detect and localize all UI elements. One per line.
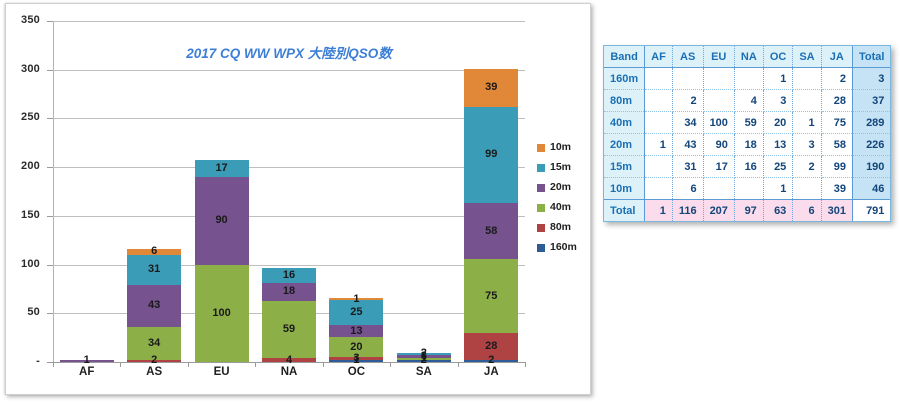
legend-swatch-80m xyxy=(537,224,545,232)
table-cell xyxy=(793,178,821,200)
bar-stack-eu[interactable]: 1790100 xyxy=(195,160,249,362)
table-cell: 1 xyxy=(763,178,793,200)
bar-segment-na-15m[interactable]: 16 xyxy=(262,268,316,284)
table-cell: 99 xyxy=(821,156,852,178)
x-axis-label-eu: EU xyxy=(192,366,252,378)
table-cell: 190 xyxy=(852,156,890,178)
bar-value-label: 25 xyxy=(350,307,362,318)
bar-segment-ja-40m[interactable]: 75 xyxy=(464,259,518,332)
bar-segment-na-20m[interactable]: 18 xyxy=(262,283,316,301)
table-row-header-40m: 40m xyxy=(604,112,645,134)
y-tick-mark-150 xyxy=(47,216,53,217)
table-cell: 1 xyxy=(645,134,673,156)
table-cell xyxy=(645,112,673,134)
table-cell xyxy=(645,156,673,178)
x-tick-end xyxy=(525,362,526,367)
legend-item-10m[interactable]: 10m xyxy=(537,142,589,153)
bar-value-label: 34 xyxy=(148,338,160,349)
x-tick-na xyxy=(255,362,256,367)
bar-value-label: 28 xyxy=(485,341,497,352)
x-axis-label-af: AF xyxy=(57,366,117,378)
table-cell: 97 xyxy=(734,200,763,222)
legend-item-40m[interactable]: 40m xyxy=(537,202,589,213)
table-cell: 2 xyxy=(672,90,703,112)
table-cell: 46 xyxy=(852,178,890,200)
table-header-total: Total xyxy=(852,46,890,68)
gridline-300 xyxy=(53,70,525,71)
bar-value-label: 31 xyxy=(148,264,160,275)
table-cell xyxy=(645,178,673,200)
legend-label: 80m xyxy=(550,222,571,233)
table-row: 40m341005920175289 xyxy=(604,112,890,134)
table-row-header-160m: 160m xyxy=(604,68,645,90)
x-tick-af xyxy=(53,362,54,367)
table-cell: 17 xyxy=(703,156,734,178)
bar-value-label: 1 xyxy=(353,355,359,366)
bar-segment-ja-20m[interactable]: 58 xyxy=(464,203,518,260)
table-row: Total111620797636301791 xyxy=(604,200,890,222)
table-cell: 301 xyxy=(821,200,852,222)
bar-segment-eu-40m[interactable]: 100 xyxy=(195,265,249,362)
y-tick-mark-250 xyxy=(47,118,53,119)
table-cell xyxy=(793,90,821,112)
table-cell: 13 xyxy=(763,134,793,156)
bar-value-label: 4 xyxy=(286,355,292,366)
y-tick-mark-300 xyxy=(47,70,53,71)
bar-value-label: 1 xyxy=(353,294,359,305)
x-tick-sa xyxy=(390,362,391,367)
table-cell: 28 xyxy=(821,90,852,112)
table-cell: 39 xyxy=(821,178,852,200)
chart-title: 2017 CQ WW WPX 大陸別QSO数 xyxy=(53,21,525,62)
table-cell: 3 xyxy=(852,68,890,90)
table-cell: 100 xyxy=(703,112,734,134)
y-tick-mark-50 xyxy=(47,313,53,314)
y-tick-mark-100 xyxy=(47,265,53,266)
bar-segment-ja-15m[interactable]: 99 xyxy=(464,107,518,203)
x-tick-eu xyxy=(188,362,189,367)
table-cell xyxy=(645,68,673,90)
bar-stack-oc[interactable]: 125132031 xyxy=(329,298,383,362)
bar-value-label: 58 xyxy=(485,226,497,237)
table-cell: 289 xyxy=(852,112,890,134)
table-row-header-80m: 80m xyxy=(604,90,645,112)
table-cell xyxy=(703,90,734,112)
qso-data-table: BandAFASEUNAOCSAJATotal 160m12380m243283… xyxy=(604,46,890,221)
bar-value-label: 39 xyxy=(485,82,497,93)
table-cell: 16 xyxy=(734,156,763,178)
legend-item-160m[interactable]: 160m xyxy=(537,242,589,253)
bar-value-label: 18 xyxy=(283,286,295,297)
table-row: 10m613946 xyxy=(604,178,890,200)
table-cell: 1 xyxy=(645,200,673,222)
bar-value-label: 17 xyxy=(215,163,227,174)
bar-stack-sa[interactable]: 2312 xyxy=(397,353,451,362)
legend-label: 20m xyxy=(550,182,571,193)
y-tick-label-100: 100 xyxy=(0,258,40,270)
gridline-150 xyxy=(53,216,525,217)
bar-value-label: 2 xyxy=(151,355,157,366)
y-tick-mark-200 xyxy=(47,167,53,168)
table-cell: 59 xyxy=(734,112,763,134)
bar-value-label: 59 xyxy=(283,324,295,335)
legend-item-20m[interactable]: 20m xyxy=(537,182,589,193)
y-tick-label-150: 150 xyxy=(0,209,40,221)
table-cell: 791 xyxy=(852,200,890,222)
table-cell: 3 xyxy=(763,90,793,112)
table-cell: 4 xyxy=(734,90,763,112)
bar-value-label: 75 xyxy=(485,291,497,302)
legend-label: 10m xyxy=(550,142,571,153)
bar-stack-as[interactable]: 63143342 xyxy=(127,249,181,362)
legend-label: 15m xyxy=(550,162,571,173)
x-tick-ja xyxy=(458,362,459,367)
legend-item-15m[interactable]: 15m xyxy=(537,162,589,173)
table-body: 160m12380m243283740m34100592017528920m14… xyxy=(604,68,890,222)
legend-item-80m[interactable]: 80m xyxy=(537,222,589,233)
table-row: 20m143901813358226 xyxy=(604,134,890,156)
bar-value-label: 90 xyxy=(215,215,227,226)
table-header-eu: EU xyxy=(703,46,734,68)
bar-segment-eu-15m[interactable]: 17 xyxy=(195,160,249,177)
table-cell xyxy=(734,68,763,90)
bar-segment-eu-20m[interactable]: 90 xyxy=(195,177,249,265)
gridline-250 xyxy=(53,118,525,119)
x-tick-oc xyxy=(323,362,324,367)
x-tick-as xyxy=(120,362,121,367)
chart-panel: -50100150200250300350 2017 CQ WW WPX 大陸別… xyxy=(5,3,591,395)
table-header-oc: OC xyxy=(763,46,793,68)
table-cell: 2 xyxy=(821,68,852,90)
plot-area: -50100150200250300350 2017 CQ WW WPX 大陸別… xyxy=(53,21,525,362)
y-tick-label-300: 300 xyxy=(0,63,40,75)
y-tick-label-350: 350 xyxy=(0,14,40,26)
table-header-ja: JA xyxy=(821,46,852,68)
bar-stack-ja[interactable]: 39995875282 xyxy=(464,69,518,362)
table-cell: 58 xyxy=(821,134,852,156)
chart-legend: 10m15m20m40m80m160m xyxy=(537,142,589,262)
bar-value-label: 6 xyxy=(151,246,157,257)
table-row-header-10m: 10m xyxy=(604,178,645,200)
legend-swatch-160m xyxy=(537,244,545,252)
bar-value-label: 13 xyxy=(350,326,362,337)
x-axis-label-oc: OC xyxy=(326,366,386,378)
table-row: 15m31171625299190 xyxy=(604,156,890,178)
table-header-as: AS xyxy=(672,46,703,68)
y-tick-label-0: - xyxy=(0,355,40,367)
table-head: BandAFASEUNAOCSAJATotal xyxy=(604,46,890,68)
x-axis-label-na: NA xyxy=(259,366,319,378)
legend-swatch-10m xyxy=(537,144,545,152)
table-cell: 37 xyxy=(852,90,890,112)
gridline-200 xyxy=(53,167,525,168)
y-tick-label-250: 250 xyxy=(0,111,40,123)
table-cell: 75 xyxy=(821,112,852,134)
bar-segment-as-20m[interactable]: 43 xyxy=(127,285,181,327)
bar-segment-na-40m[interactable]: 59 xyxy=(262,301,316,358)
legend-swatch-15m xyxy=(537,164,545,172)
legend-swatch-20m xyxy=(537,184,545,192)
bar-value-label: 99 xyxy=(485,149,497,160)
table-cell: 90 xyxy=(703,134,734,156)
table-cell xyxy=(734,178,763,200)
table-cell xyxy=(793,68,821,90)
bar-value-label: 16 xyxy=(283,270,295,281)
legend-label: 40m xyxy=(550,202,571,213)
bar-segment-oc-20m[interactable]: 13 xyxy=(329,325,383,338)
table-cell xyxy=(672,68,703,90)
bar-segment-as-15m[interactable]: 31 xyxy=(127,255,181,285)
bar-value-label: 43 xyxy=(148,300,160,311)
x-axis-label-sa: SA xyxy=(394,366,454,378)
table-cell: 31 xyxy=(672,156,703,178)
table-cell: 6 xyxy=(793,200,821,222)
table-row-header-20m: 20m xyxy=(604,134,645,156)
table-cell: 18 xyxy=(734,134,763,156)
table-cell xyxy=(703,178,734,200)
bar-segment-ja-10m[interactable]: 39 xyxy=(464,69,518,107)
gridline-100 xyxy=(53,265,525,266)
bar-value-label: 1 xyxy=(84,355,90,366)
table-header-af: AF xyxy=(645,46,673,68)
table-row-header-15m: 15m xyxy=(604,156,645,178)
table-cell: 3 xyxy=(793,134,821,156)
table-cell: 25 xyxy=(763,156,793,178)
table-cell: 6 xyxy=(672,178,703,200)
table-cell: 63 xyxy=(763,200,793,222)
y-tick-label-50: 50 xyxy=(0,306,40,318)
table-cell: 43 xyxy=(672,134,703,156)
table-cell xyxy=(645,90,673,112)
x-axis-label-as: AS xyxy=(124,366,184,378)
table-cell: 207 xyxy=(703,200,734,222)
legend-swatch-40m xyxy=(537,204,545,212)
bar-value-label: 2 xyxy=(488,355,494,366)
table-cell: 34 xyxy=(672,112,703,134)
table-row: 160m123 xyxy=(604,68,890,90)
data-table-panel: BandAFASEUNAOCSAJATotal 160m12380m243283… xyxy=(603,45,891,222)
y-tick-label-200: 200 xyxy=(0,160,40,172)
table-row-header-total: Total xyxy=(604,200,645,222)
table-cell: 1 xyxy=(793,112,821,134)
bar-value-label: 2 xyxy=(421,355,427,366)
table-row: 80m2432837 xyxy=(604,90,890,112)
table-cell: 116 xyxy=(672,200,703,222)
table-header-sa: SA xyxy=(793,46,821,68)
x-axis-label-ja: JA xyxy=(461,366,521,378)
table-cell: 2 xyxy=(793,156,821,178)
bar-value-label: 100 xyxy=(212,308,230,319)
bar-stack-na[interactable]: 1618594 xyxy=(262,268,316,362)
table-cell xyxy=(703,68,734,90)
table-cell: 20 xyxy=(763,112,793,134)
table-cell: 1 xyxy=(763,68,793,90)
table-header-band: Band xyxy=(604,46,645,68)
legend-label: 160m xyxy=(550,242,577,253)
table-cell: 226 xyxy=(852,134,890,156)
table-header-na: NA xyxy=(734,46,763,68)
table-header-row: BandAFASEUNAOCSAJATotal xyxy=(604,46,890,68)
